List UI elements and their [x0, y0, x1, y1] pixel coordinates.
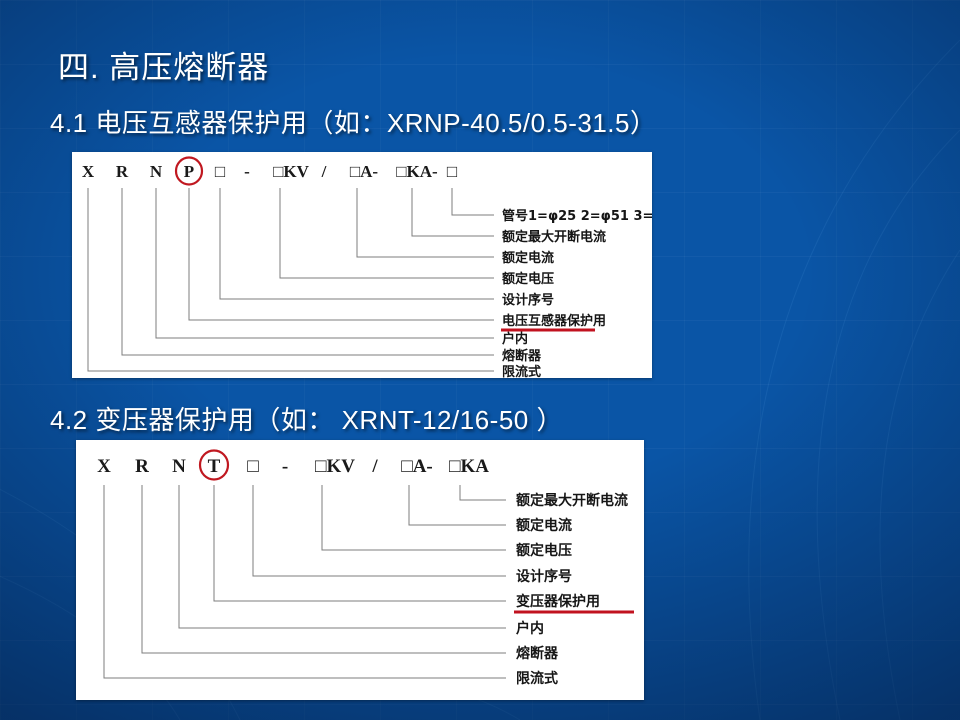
- leader-line-tube: [452, 188, 494, 215]
- label-indoor: 户内: [502, 331, 528, 347]
- symbol-amp: □A-: [350, 162, 379, 181]
- symbol-dash: -: [282, 456, 288, 477]
- label-breaking-current: 额定最大开断电流: [516, 492, 628, 509]
- leader-line-transformer-protection: [214, 485, 506, 601]
- diagram-xrnt: X R N T □ - □KV / □A- □KA: [76, 440, 644, 700]
- symbol-dash: -: [244, 162, 250, 181]
- symbol-box-series: □: [215, 162, 225, 181]
- leader-line-pt-protection: [189, 188, 494, 320]
- symbol-ka: □KA: [449, 456, 489, 477]
- leader-line-design-serial: [253, 485, 506, 576]
- symbol-n: N: [172, 456, 186, 477]
- leader-line-current-limiting: [104, 485, 506, 678]
- leader-line-rated-voltage: [280, 188, 494, 278]
- symbol-r: R: [116, 162, 129, 181]
- leader-line-indoor: [179, 485, 506, 628]
- label-rated-current: 额定电流: [516, 517, 572, 534]
- section-heading-4-2: 4.2 变压器保护用（如： XRNT-12/16-50 ）: [50, 400, 563, 437]
- leader-line-breaking-current: [412, 188, 494, 236]
- diagram-xrnp: X R N P □ - □KV / □A- □KA- □: [72, 152, 652, 378]
- symbol-kv: □KV: [273, 162, 309, 181]
- symbol-slash: /: [321, 162, 327, 181]
- leader-line-rated-current: [357, 188, 494, 257]
- leader-line-current-limiting: [88, 188, 494, 371]
- symbol-amp: □A-: [401, 456, 433, 477]
- label-current-limiting: 限流式: [516, 670, 558, 687]
- page-title: 四. 高压熔断器: [58, 42, 269, 87]
- label-rated-voltage: 额定电压: [502, 271, 554, 287]
- symbol-t-circled: T: [208, 456, 221, 477]
- symbol-ka: □KA-: [396, 162, 438, 181]
- leader-line-rated-voltage: [322, 485, 506, 550]
- label-rated-current: 额定电流: [502, 250, 554, 266]
- symbol-p-circled: P: [184, 162, 194, 181]
- label-current-limiting: 限流式: [502, 364, 541, 378]
- slide-background: 四. 高压熔断器 4.1 电压互感器保护用（如：XRNP-40.5/0.5-31…: [0, 0, 960, 720]
- leader-line-breaking-current: [460, 485, 506, 500]
- symbol-box-tube: □: [447, 162, 457, 181]
- label-tube-number: 管号1=φ25 2=φ51 3=φ30 4=φ41: [502, 208, 652, 224]
- symbol-slash: /: [371, 456, 378, 477]
- label-pt-protection: 电压互感器保护用: [502, 313, 606, 329]
- symbol-r: R: [135, 456, 149, 477]
- symbol-box-series: □: [247, 456, 259, 477]
- symbol-kv: □KV: [315, 456, 355, 477]
- symbol-x: X: [82, 162, 95, 181]
- symbol-x: X: [97, 456, 111, 477]
- label-design-serial: 设计序号: [516, 568, 572, 585]
- symbol-n: N: [150, 162, 163, 181]
- leader-line-indoor: [156, 188, 494, 338]
- section-heading-4-1: 4.1 电压互感器保护用（如：XRNP-40.5/0.5-31.5）: [50, 103, 657, 140]
- label-design-serial: 设计序号: [502, 292, 554, 308]
- label-fuse: 熔断器: [502, 348, 542, 364]
- label-rated-voltage: 额定电压: [516, 542, 572, 559]
- leader-line-rated-current: [409, 485, 506, 525]
- label-indoor: 户内: [516, 620, 544, 637]
- label-breaking-current: 额定最大开断电流: [502, 229, 606, 245]
- label-transformer-protection: 变压器保护用: [516, 593, 600, 610]
- leader-line-fuse: [122, 188, 494, 355]
- label-fuse: 熔断器: [516, 645, 559, 662]
